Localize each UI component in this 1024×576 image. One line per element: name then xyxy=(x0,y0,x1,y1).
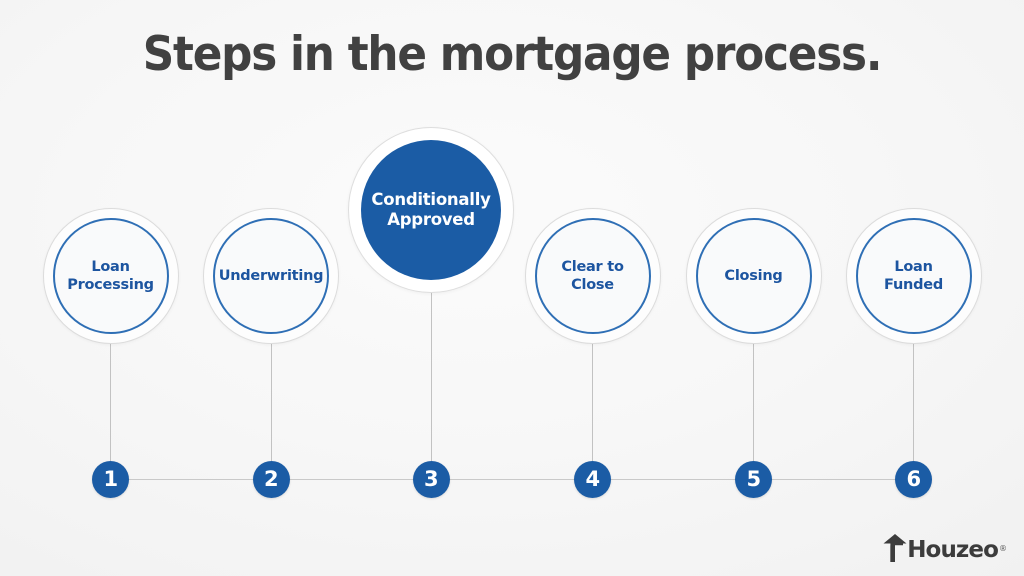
step-label-2: Underwriting xyxy=(211,267,332,285)
step-bubble-3[interactable]: ConditionallyApproved xyxy=(361,140,501,280)
step-connector-line xyxy=(592,344,593,461)
house-icon xyxy=(883,533,908,563)
step-number-3: 3 xyxy=(424,469,438,490)
step-number-badge-2[interactable]: 2 xyxy=(253,461,290,498)
step-number-6: 6 xyxy=(906,469,920,490)
step-bubble-2[interactable]: Underwriting xyxy=(213,218,329,334)
page-title: Steps in the mortgage process. xyxy=(36,27,988,82)
step-bubble-6[interactable]: LoanFunded xyxy=(856,218,972,334)
step-number-5: 5 xyxy=(746,469,760,490)
step-number-badge-3[interactable]: 3 xyxy=(413,461,450,498)
step-number-2: 2 xyxy=(264,469,278,490)
step-label-5: Closing xyxy=(716,267,790,285)
step-connector-line xyxy=(753,344,754,461)
step-number-badge-5[interactable]: 5 xyxy=(735,461,772,498)
infographic-canvas: Steps in the mortgage process. LoanProce… xyxy=(0,0,1024,576)
step-label-6: LoanFunded xyxy=(876,258,951,295)
step-bubble-5[interactable]: Closing xyxy=(696,218,812,334)
logo-wordmark: Houzeo xyxy=(907,539,998,562)
step-label-1: LoanProcessing xyxy=(59,258,162,295)
step-connector-line xyxy=(913,344,914,461)
step-bubble-4[interactable]: Clear toClose xyxy=(535,218,651,334)
step-number-badge-1[interactable]: 1 xyxy=(92,461,129,498)
step-connector-line xyxy=(431,293,432,461)
step-number-badge-4[interactable]: 4 xyxy=(574,461,611,498)
houzeo-logo: Houzeo ® xyxy=(883,533,1007,563)
step-number-badge-6[interactable]: 6 xyxy=(895,461,932,498)
step-label-3: ConditionallyApproved xyxy=(363,190,498,230)
step-number-4: 4 xyxy=(585,469,599,490)
timeline-baseline xyxy=(111,479,914,480)
step-connector-line xyxy=(271,344,272,461)
step-number-1: 1 xyxy=(103,469,117,490)
step-connector-line xyxy=(110,344,111,461)
step-label-4: Clear toClose xyxy=(553,258,631,295)
step-bubble-1[interactable]: LoanProcessing xyxy=(53,218,169,334)
logo-trademark: ® xyxy=(999,544,1007,553)
